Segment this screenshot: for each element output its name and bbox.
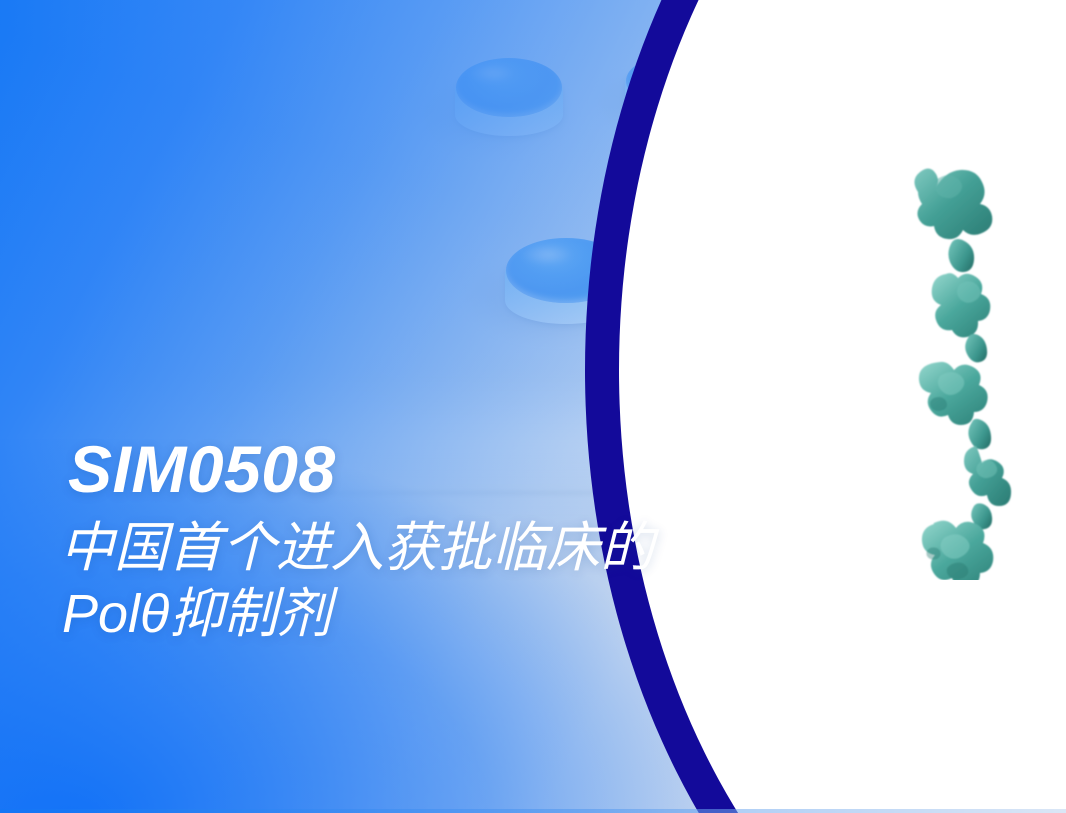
page-title: SIM0508 [68,436,654,502]
promo-banner: SIM0508 中国首个进入获批临床的 Polθ抑制剂 [0,0,1066,813]
polymerase-theta-protein-icon [890,150,1060,580]
headline-block: SIM0508 中国首个进入获批临床的 Polθ抑制剂 [60,436,654,648]
subtitle-line-1: 中国首个进入获批临床的 [60,516,654,582]
subtitle-line-2: Polθ抑制剂 [62,582,654,648]
bottom-edge-strip [0,809,1066,813]
